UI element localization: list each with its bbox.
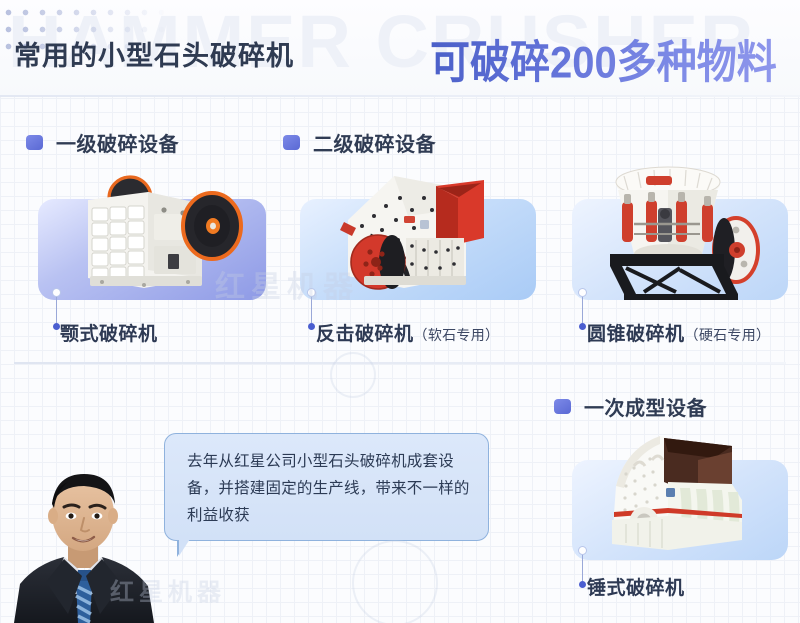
- machine-card-hammer-crusher[interactable]: [572, 432, 788, 560]
- pin-dot-icon: [579, 323, 586, 330]
- section-label-text: 一次成型设备: [584, 392, 707, 421]
- caption-main-text: 反击破碎机: [316, 319, 414, 346]
- testimonial-text: 去年从红星公司小型石头破碎机成套设备，并搭建固定的生产线，带来不一样的利益收获: [187, 448, 470, 529]
- jaw-crusher-illustration: [52, 166, 264, 300]
- pin-dot-icon: [579, 581, 586, 588]
- machine-card-impact-crusher[interactable]: [300, 170, 536, 300]
- section-label-primary: 一级破碎设备: [26, 128, 179, 157]
- watermark-circle-decoration: [330, 352, 376, 398]
- section-divider: [14, 362, 786, 364]
- pin-dot-icon: [53, 323, 60, 330]
- cone-crusher-illustration: [584, 162, 788, 304]
- header-divider: [0, 95, 800, 97]
- bubble-tail-icon: [179, 539, 190, 556]
- pin-dot-icon: [308, 323, 315, 330]
- header-banner: HAMMER CRUSHER 常用的小型石头破碎机 可破碎200多种物料: [0, 0, 800, 96]
- pin-line: [311, 297, 313, 323]
- impact-crusher-illustration: [308, 164, 534, 302]
- businessman-illustration: [6, 462, 174, 623]
- header-headline: 可破碎200多种物料: [430, 26, 777, 91]
- pin-line: [56, 297, 58, 323]
- pin-line: [582, 297, 584, 323]
- machine-card-cone-crusher[interactable]: [572, 170, 788, 300]
- section-label-text: 二级破碎设备: [313, 128, 436, 157]
- pin-head-icon: [307, 288, 316, 297]
- caption-jaw-crusher: 颚式破碎机: [60, 319, 158, 346]
- caption-impact-crusher: 反击破碎机 （软石专用）: [316, 319, 499, 346]
- machine-card-jaw-crusher[interactable]: [38, 170, 266, 300]
- pin-head-icon: [578, 288, 587, 297]
- caption-main-text: 颚式破碎机: [60, 319, 158, 346]
- watermark-circle-decoration: [352, 540, 438, 623]
- caption-cone-crusher: 圆锥破碎机 （硬石专用）: [587, 319, 770, 346]
- square-chip-icon: [283, 135, 300, 150]
- caption-main-text: 锤式破碎机: [587, 573, 685, 600]
- square-chip-icon: [26, 135, 43, 150]
- caption-note-text: （软石专用）: [414, 325, 500, 345]
- infographic-page: HAMMER CRUSHER 常用的小型石头破碎机 可破碎200多种物料 一级破…: [0, 0, 800, 623]
- hammer-crusher-illustration: [582, 426, 788, 560]
- section-label-text: 一级破碎设备: [56, 128, 179, 157]
- testimonial-bubble: 去年从红星公司小型石头破碎机成套设备，并搭建固定的生产线，带来不一样的利益收获: [164, 433, 489, 541]
- customer-photo: [6, 462, 174, 623]
- section-label-secondary: 二级破碎设备: [283, 128, 436, 157]
- section-label-one-shot: 一次成型设备: [554, 392, 707, 421]
- page-title: 常用的小型石头破碎机: [14, 34, 294, 73]
- caption-hammer-crusher: 锤式破碎机: [587, 573, 685, 600]
- pin-line: [582, 555, 584, 581]
- square-chip-icon: [554, 399, 571, 414]
- pin-head-icon: [578, 546, 587, 555]
- caption-main-text: 圆锥破碎机: [587, 319, 685, 346]
- pin-head-icon: [52, 288, 61, 297]
- caption-note-text: （硬石专用）: [685, 325, 771, 345]
